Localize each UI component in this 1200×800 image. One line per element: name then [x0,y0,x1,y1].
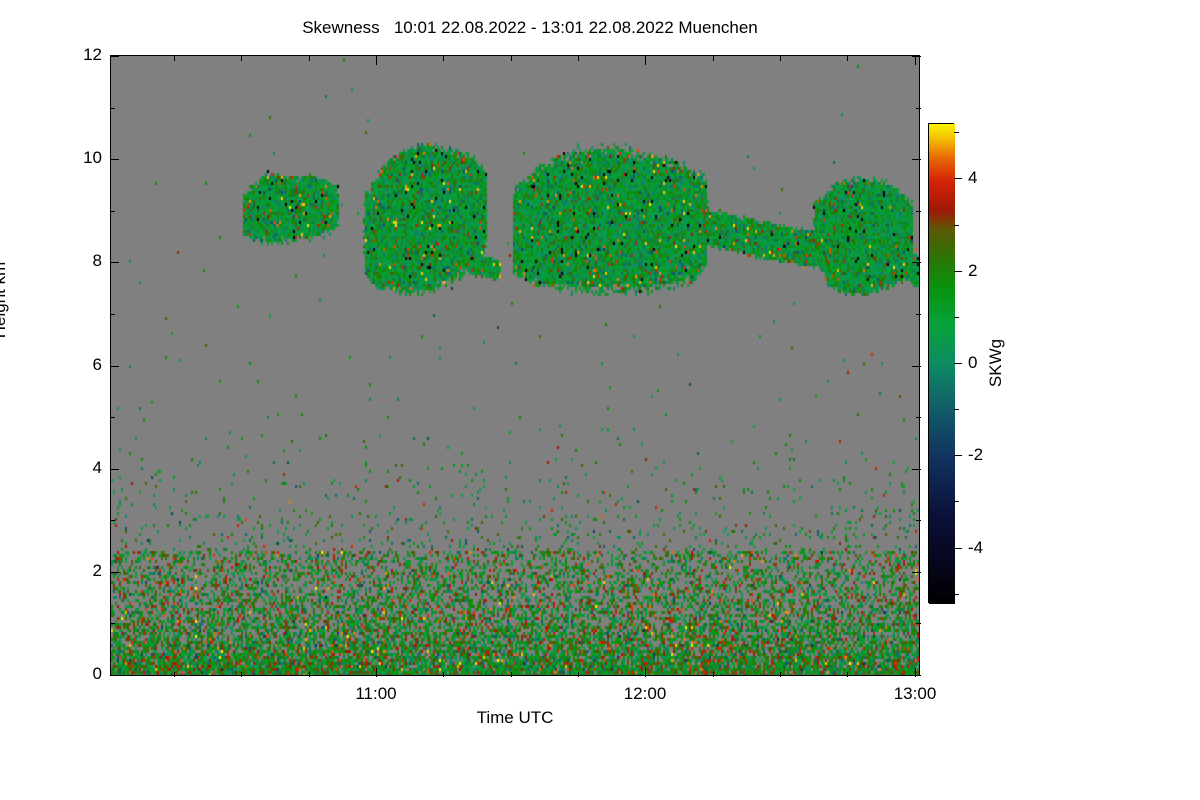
y-tick-label-text: 0 [93,664,102,684]
y-tick-major [110,262,119,263]
colorbar-title: SKWg [986,339,1006,387]
y-tick-minor-right [916,108,921,109]
x-tick-minor-top [309,56,310,61]
y-tick-minor [110,623,115,624]
y-tick-major [110,675,119,676]
x-tick-minor-top [241,56,242,61]
colorbar-tick-minor [954,501,959,502]
y-tick-minor [110,520,115,521]
colorbar [928,123,954,603]
x-tick-major [915,668,916,677]
figure-root: Skewness 10:01 22.08.2022 - 13:01 22.08.… [0,0,1200,800]
colorbar-canvas [929,124,955,604]
x-tick-minor [713,672,714,677]
x-tick-major-top [645,56,646,65]
colorbar-tick-minor [954,409,959,410]
x-tick-minor [174,672,175,677]
x-tick-minor [578,672,579,677]
y-tick-major-right [912,56,921,57]
x-tick-minor [780,672,781,677]
y-tick-label-text: 8 [93,251,102,271]
y-tick-major-right [912,572,921,573]
y-tick-major-right [912,262,921,263]
x-tick-label: 11:00 [355,684,396,704]
x-tick-major [376,668,377,677]
colorbar-tick-label: 2 [968,261,977,281]
y-tick-label-text: 10 [83,148,102,168]
x-tick-label: 12:00 [624,684,667,704]
y-tick-minor-right [916,520,921,521]
colorbar-tick-major [954,178,962,179]
colorbar-tick-label: 4 [968,168,977,188]
colorbar-tick-label: 0 [968,353,977,373]
x-tick-minor-top [578,56,579,61]
colorbar-tick-label: -2 [968,445,983,465]
y-tick-major-right [912,366,921,367]
y-tick-label-text: 4 [93,458,102,478]
y-tick-major [110,572,119,573]
y-tick-label-text: 2 [93,561,102,581]
colorbar-tick-major [954,548,962,549]
page-title: Skewness 10:01 22.08.2022 - 13:01 22.08.… [0,18,1060,38]
x-axis-title: Time UTC [110,708,920,728]
colorbar-tick-minor [954,225,959,226]
colorbar-tick-major [954,455,962,456]
y-tick-minor [110,211,115,212]
x-tick-major [645,668,646,677]
y-tick-major-right [912,159,921,160]
x-tick-minor [241,672,242,677]
x-tick-minor [443,672,444,677]
colorbar-tick-major [954,363,962,364]
x-tick-minor [847,672,848,677]
y-tick-minor [110,314,115,315]
x-tick-minor-top [780,56,781,61]
x-tick-minor-top [713,56,714,61]
y-tick-major [110,159,119,160]
x-tick-minor [309,672,310,677]
y-tick-minor-right [916,623,921,624]
y-tick-label-text: 12 [83,45,102,65]
y-tick-major [110,469,119,470]
plot-area [110,55,920,676]
y-tick-minor [110,417,115,418]
y-tick-minor-right [916,417,921,418]
y-tick-major-right [912,675,921,676]
colorbar-tick-label: -4 [968,538,983,558]
y-tick-major [110,56,119,57]
colorbar-tick-minor [954,132,959,133]
y-tick-minor-right [916,211,921,212]
x-tick-minor [511,672,512,677]
x-tick-minor-top [847,56,848,61]
y-tick-minor-right [916,314,921,315]
y-tick-minor [110,108,115,109]
colorbar-gradient [928,123,954,603]
colorbar-tick-minor [954,317,959,318]
x-tick-label: 13:00 [894,684,937,704]
colorbar-tick-major [954,271,962,272]
y-tick-label-text: 6 [93,355,102,375]
x-tick-minor-top [443,56,444,61]
heatmap-canvas [111,56,919,675]
y-tick-major-right [912,469,921,470]
y-axis-title: Height km [0,262,10,339]
x-tick-minor-top [511,56,512,61]
x-tick-major-top [376,56,377,65]
x-tick-major-top [915,56,916,65]
y-tick-major [110,366,119,367]
x-tick-minor-top [174,56,175,61]
colorbar-tick-minor [954,594,959,595]
